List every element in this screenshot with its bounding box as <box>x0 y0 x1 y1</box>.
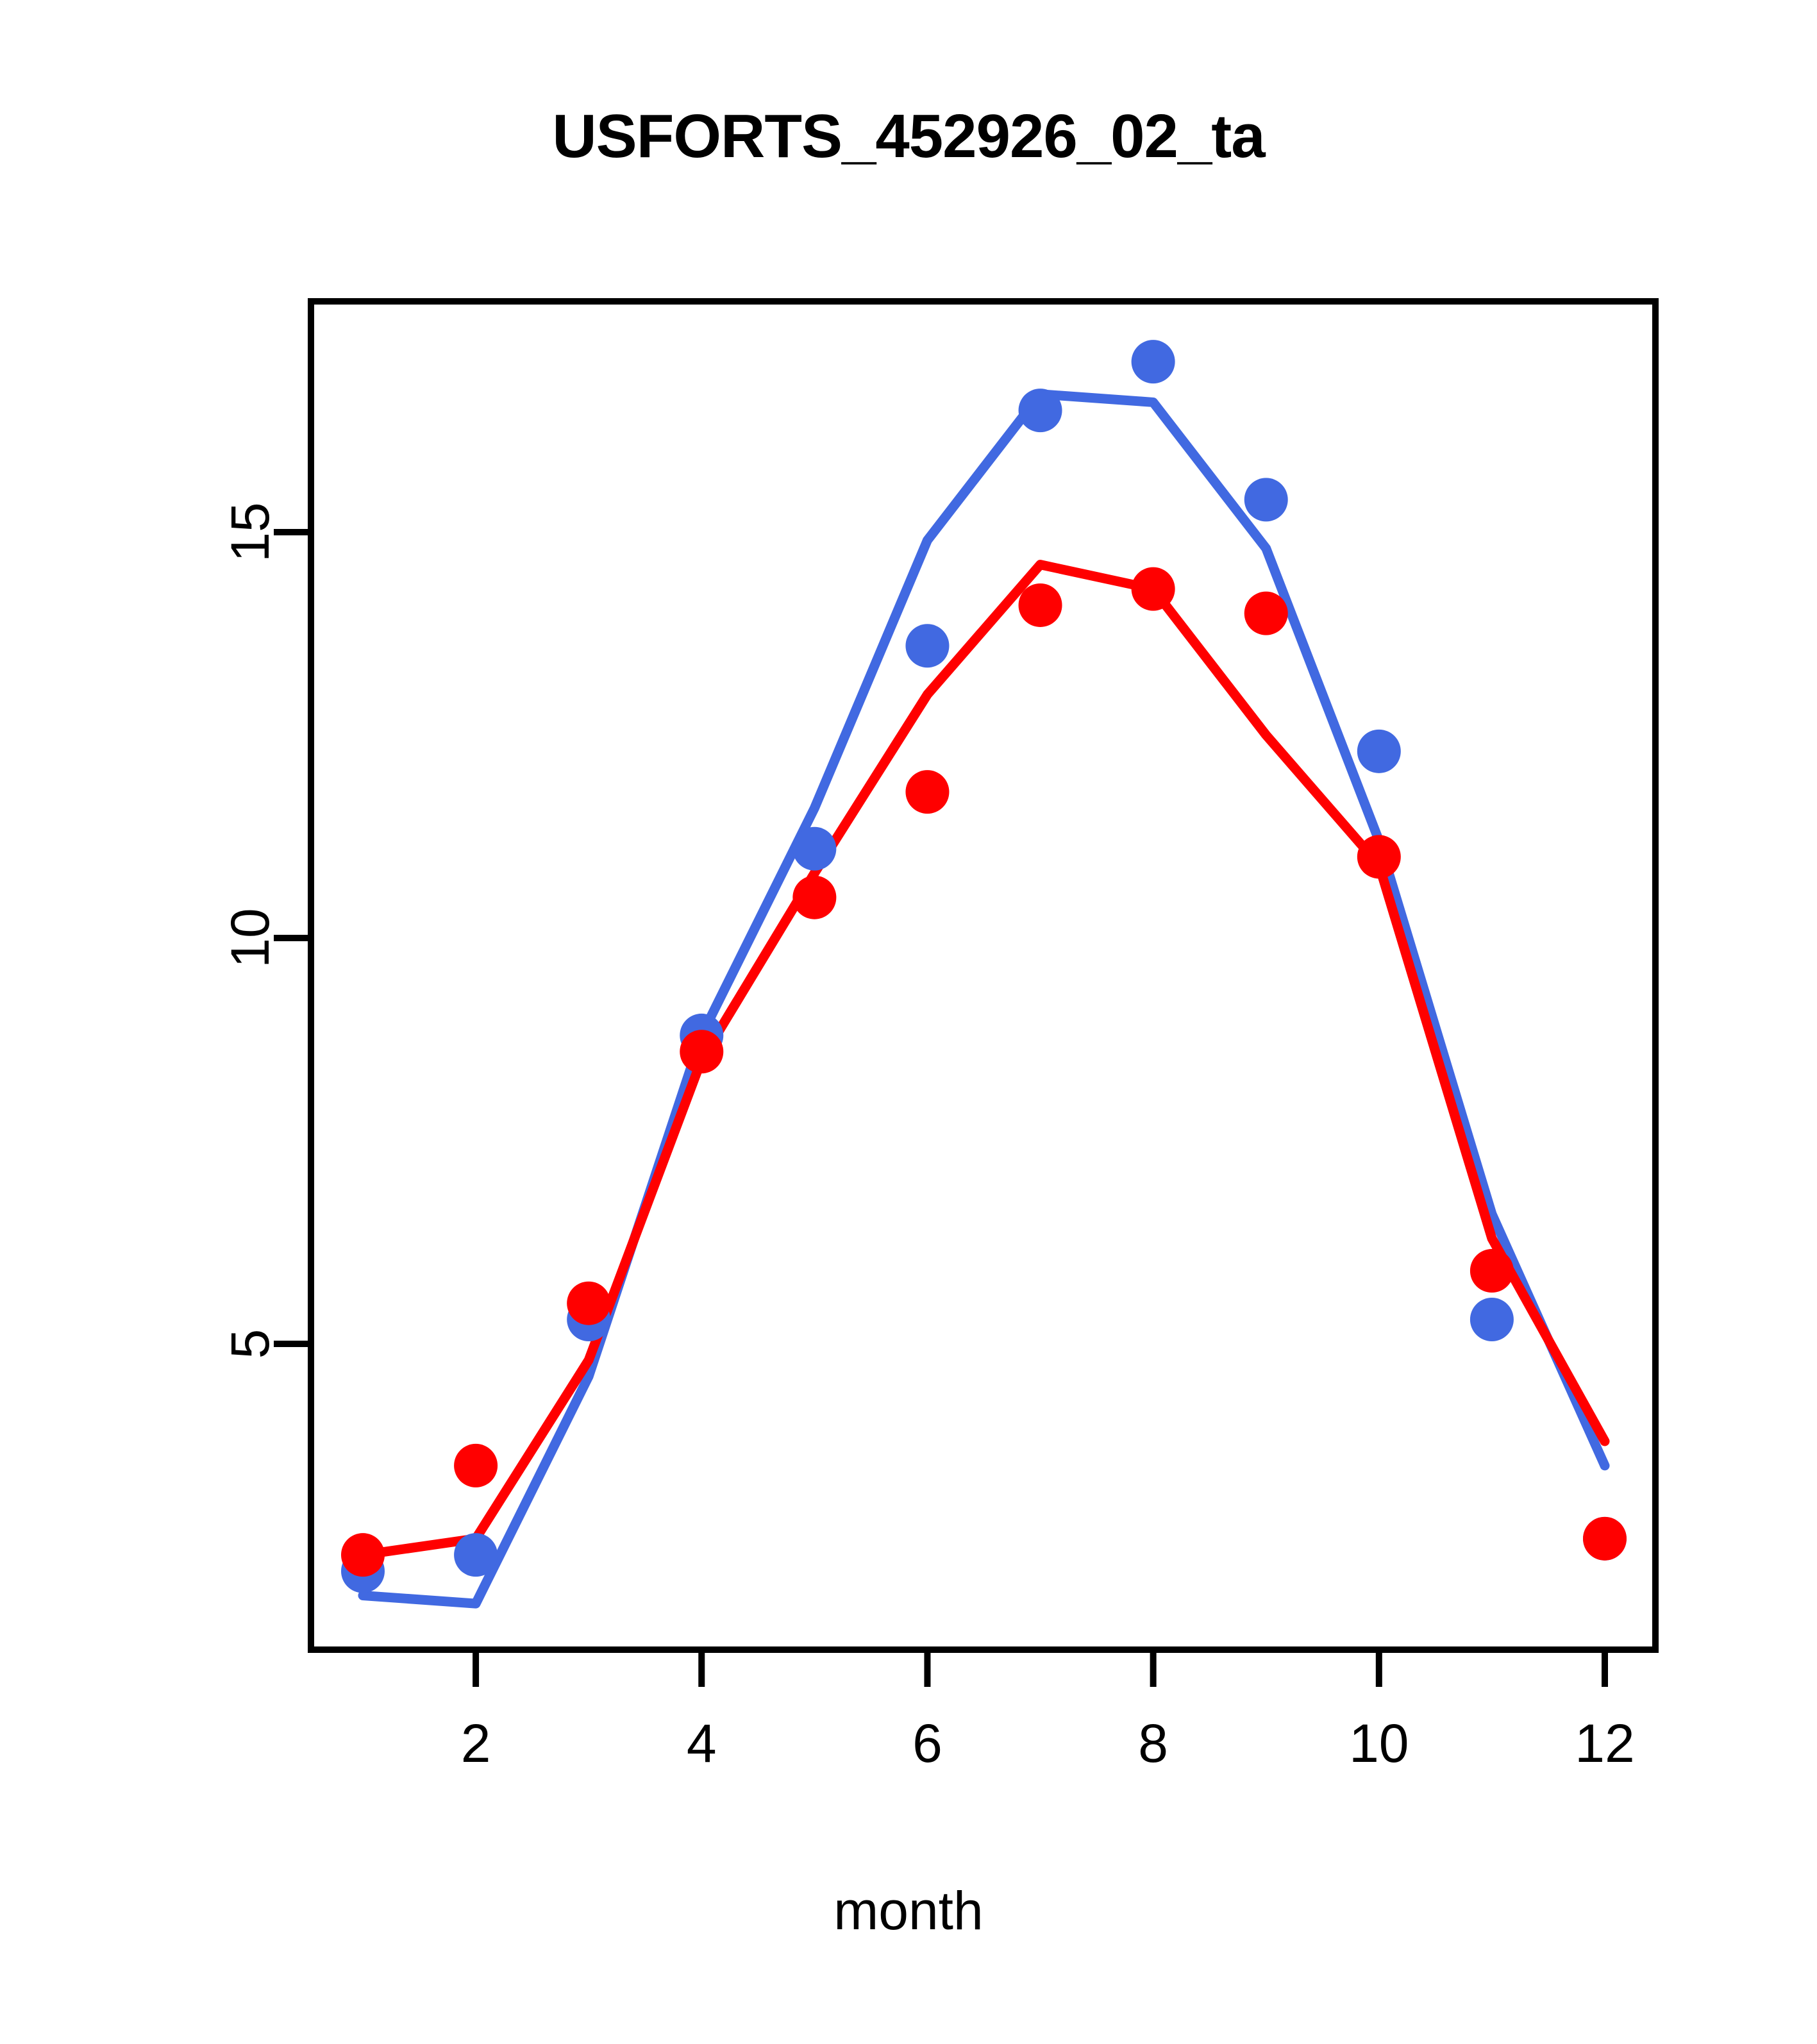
y-tick-label: 10 <box>220 908 280 968</box>
plot-canvas: 5101524681012 <box>0 0 1817 2044</box>
data-point <box>680 1030 723 1073</box>
data-point <box>454 1533 498 1577</box>
data-point <box>567 1282 610 1325</box>
x-tick-label: 12 <box>1575 1713 1634 1773</box>
y-tick-label: 5 <box>220 1329 280 1359</box>
plot-figure: USFORTS_452926_02_ta 5101524681012 month <box>0 0 1817 2044</box>
data-point <box>1132 340 1175 383</box>
data-point <box>1019 583 1062 627</box>
x-axis-label: month <box>0 1880 1817 1942</box>
data-point <box>792 827 836 871</box>
data-series <box>341 340 1627 1604</box>
markers-red-series <box>341 567 1627 1577</box>
data-point <box>1357 835 1401 878</box>
data-point <box>1357 730 1401 773</box>
data-point <box>1470 1249 1514 1293</box>
markers-blue-series <box>341 340 1627 1593</box>
x-tick-label: 8 <box>1138 1713 1168 1773</box>
plot-box <box>311 301 1655 1650</box>
series-red-series <box>363 565 1605 1555</box>
data-point <box>454 1444 498 1487</box>
x-tick-label: 4 <box>687 1713 717 1773</box>
data-point <box>792 876 836 919</box>
data-point <box>905 770 949 814</box>
data-point <box>1244 592 1288 635</box>
data-point <box>1583 1517 1627 1561</box>
data-point <box>1244 478 1288 521</box>
data-point <box>1019 389 1062 432</box>
y-tick-label: 15 <box>220 502 280 562</box>
series-line <box>363 565 1605 1555</box>
data-point <box>1470 1298 1514 1341</box>
x-tick-label: 10 <box>1349 1713 1409 1773</box>
data-point <box>341 1533 385 1577</box>
data-point <box>1132 567 1175 611</box>
x-tick-label: 6 <box>912 1713 942 1773</box>
data-point <box>905 624 949 667</box>
x-tick-label: 2 <box>461 1713 491 1773</box>
